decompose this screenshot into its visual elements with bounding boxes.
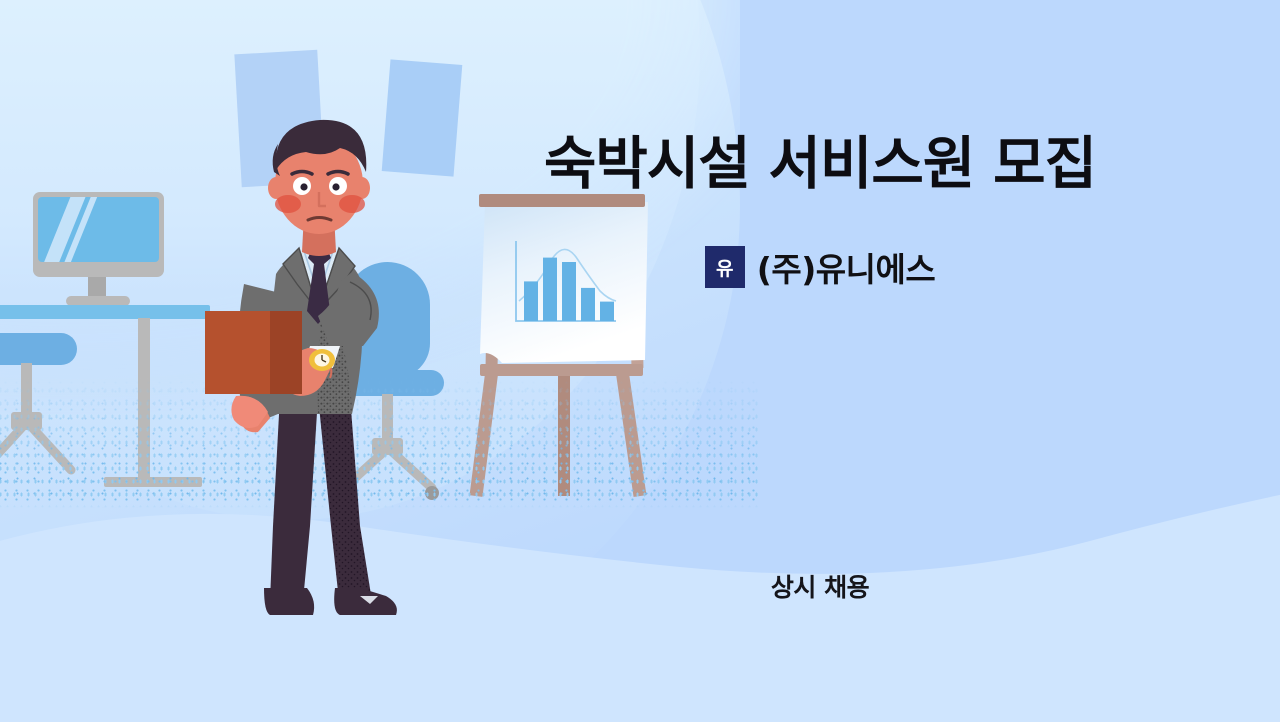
monitor-neck-icon xyxy=(88,277,106,298)
company-logo: 유 xyxy=(705,246,745,288)
page-title: 숙박시설 서비스원 모집 xyxy=(470,132,1170,198)
company-row: 유 (주)유니에스 xyxy=(470,243,1170,291)
businessman-illustration xyxy=(200,96,470,616)
hiring-status-badge: 상시 채용 xyxy=(470,568,1170,604)
monitor-screen-icon xyxy=(38,197,159,262)
easel-tray-icon xyxy=(480,364,643,376)
job-posting-poster: 숙박시설 서비스원 모집 유 (주)유니에스 상시 채용 xyxy=(0,0,1280,722)
company-name: (주)유니에스 xyxy=(757,243,935,291)
desk-surface-icon xyxy=(0,305,210,319)
office-chair-left-seat-icon xyxy=(0,333,77,365)
